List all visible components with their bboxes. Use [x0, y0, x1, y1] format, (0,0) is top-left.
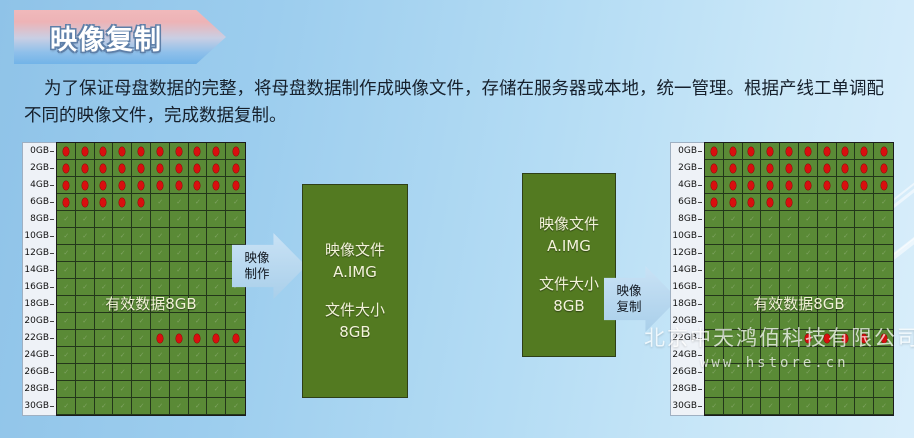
free-block-marker: ✓	[82, 404, 87, 409]
free-block-marker: ✓	[82, 268, 87, 273]
disk-block-cell	[743, 194, 762, 211]
disk-block-cell	[761, 194, 780, 211]
disk-block-cell: ✓	[724, 398, 743, 415]
disk-block-cell: ✓	[132, 364, 151, 381]
disk-block-cell	[113, 143, 132, 160]
free-block-marker: ✓	[749, 387, 754, 392]
axis-tick-label: 0GB	[23, 143, 56, 160]
disk-block-cell: ✓	[724, 296, 743, 313]
disk-block-cell: ✓	[132, 211, 151, 228]
disk-block-cell: ✓	[151, 313, 170, 330]
disk-block-cell: ✓	[761, 381, 780, 398]
free-block-marker: ✓	[862, 404, 867, 409]
axis-tick-label: 14GB	[23, 262, 56, 279]
free-block-marker: ✓	[730, 251, 735, 256]
free-block-marker: ✓	[195, 319, 200, 324]
disk-block-cell	[743, 160, 762, 177]
used-block-marker	[157, 181, 163, 190]
free-block-marker: ✓	[843, 251, 848, 256]
disk-block-cell	[151, 177, 170, 194]
disk-block-cell: ✓	[874, 381, 893, 398]
disk-block-cell: ✓	[207, 381, 226, 398]
disk-block-cell	[76, 143, 95, 160]
disk-block-cell: ✓	[207, 296, 226, 313]
target-disk-axis: 0GB2GB4GB6GB8GB10GB12GB14GB16GB18GB20GB2…	[670, 142, 704, 416]
disk-block-cell: ✓	[189, 364, 208, 381]
free-block-marker: ✓	[139, 319, 144, 324]
used-block-marker	[842, 164, 848, 173]
disk-block-cell: ✓	[705, 347, 724, 364]
free-block-marker: ✓	[214, 285, 219, 290]
disk-block-cell: ✓	[207, 313, 226, 330]
free-block-marker: ✓	[881, 319, 886, 324]
used-block-marker	[157, 147, 163, 156]
disk-block-cell: ✓	[76, 296, 95, 313]
disk-block-cell: ✓	[724, 330, 743, 347]
disk-block-cell: ✓	[151, 296, 170, 313]
free-block-marker: ✓	[63, 370, 68, 375]
disk-block-cell: ✓	[170, 194, 189, 211]
disk-block-cell: ✓	[132, 228, 151, 245]
free-block-marker: ✓	[233, 353, 238, 358]
disk-block-cell	[855, 143, 874, 160]
free-block-marker: ✓	[862, 268, 867, 273]
used-block-marker	[824, 334, 830, 343]
disk-block-cell	[799, 160, 818, 177]
disk-block-cell: ✓	[151, 364, 170, 381]
disk-block-cell: ✓	[207, 245, 226, 262]
used-block-marker	[119, 164, 125, 173]
disk-block-cell: ✓	[855, 194, 874, 211]
free-block-marker: ✓	[787, 234, 792, 239]
free-block-marker: ✓	[711, 404, 716, 409]
disk-block-cell: ✓	[113, 296, 132, 313]
free-block-marker: ✓	[176, 404, 181, 409]
free-block-marker: ✓	[711, 319, 716, 324]
disk-block-cell	[95, 194, 114, 211]
axis-tick-label: 20GB	[671, 313, 704, 330]
free-block-marker: ✓	[787, 336, 792, 341]
free-block-marker: ✓	[101, 404, 106, 409]
disk-block-cell	[837, 143, 856, 160]
disk-block-cell	[724, 143, 743, 160]
free-block-marker: ✓	[120, 234, 125, 239]
free-block-marker: ✓	[824, 387, 829, 392]
disk-block-cell: ✓	[855, 381, 874, 398]
free-block-marker: ✓	[233, 234, 238, 239]
used-block-marker	[100, 164, 106, 173]
disk-block-cell: ✓	[780, 228, 799, 245]
free-block-marker: ✓	[749, 302, 754, 307]
disk-block-cell: ✓	[226, 347, 245, 364]
disk-block-cell	[874, 330, 893, 347]
free-block-marker: ✓	[805, 234, 810, 239]
disk-block-cell: ✓	[799, 194, 818, 211]
disk-block-cell: ✓	[818, 381, 837, 398]
disk-block-cell: ✓	[189, 313, 208, 330]
used-block-marker	[824, 181, 830, 190]
disk-block-cell: ✓	[95, 296, 114, 313]
used-block-marker	[767, 181, 773, 190]
used-block-marker	[861, 147, 867, 156]
free-block-marker: ✓	[711, 285, 716, 290]
used-block-marker	[842, 334, 848, 343]
disk-block-cell	[226, 160, 245, 177]
free-block-marker: ✓	[862, 234, 867, 239]
free-block-marker: ✓	[711, 387, 716, 392]
free-block-marker: ✓	[63, 251, 68, 256]
disk-block-cell	[855, 160, 874, 177]
free-block-marker: ✓	[768, 251, 773, 256]
free-block-marker: ✓	[881, 251, 886, 256]
axis-tick-label: 8GB	[23, 211, 56, 228]
disk-block-cell: ✓	[189, 279, 208, 296]
free-block-marker: ✓	[195, 234, 200, 239]
disk-block-cell: ✓	[724, 245, 743, 262]
used-block-marker	[861, 181, 867, 190]
disk-block-cell: ✓	[799, 381, 818, 398]
free-block-marker: ✓	[157, 217, 162, 222]
disk-block-cell: ✓	[818, 296, 837, 313]
disk-block-cell: ✓	[780, 245, 799, 262]
free-block-marker: ✓	[233, 217, 238, 222]
free-block-marker: ✓	[843, 370, 848, 375]
free-block-marker: ✓	[101, 336, 106, 341]
used-block-marker	[824, 164, 830, 173]
free-block-marker: ✓	[862, 319, 867, 324]
free-block-marker: ✓	[157, 353, 162, 358]
disk-block-cell	[113, 177, 132, 194]
free-block-marker: ✓	[63, 404, 68, 409]
used-block-marker	[730, 198, 736, 207]
free-block-marker: ✓	[101, 251, 106, 256]
free-block-marker: ✓	[862, 251, 867, 256]
free-block-marker: ✓	[233, 370, 238, 375]
used-block-marker	[767, 198, 773, 207]
free-block-marker: ✓	[82, 319, 87, 324]
disk-block-cell: ✓	[57, 262, 76, 279]
used-block-marker	[213, 334, 219, 343]
disk-block-cell	[799, 330, 818, 347]
free-block-marker: ✓	[63, 319, 68, 324]
disk-block-cell: ✓	[780, 398, 799, 415]
disk-block-cell: ✓	[837, 364, 856, 381]
free-block-marker: ✓	[730, 370, 735, 375]
disk-block-cell: ✓	[57, 398, 76, 415]
free-block-marker: ✓	[824, 353, 829, 358]
disk-block-cell: ✓	[189, 398, 208, 415]
free-block-marker: ✓	[711, 217, 716, 222]
disk-block-cell: ✓	[780, 262, 799, 279]
disk-block-cell: ✓	[761, 296, 780, 313]
disk-block-cell: ✓	[207, 364, 226, 381]
free-block-marker: ✓	[157, 370, 162, 375]
used-block-marker	[805, 334, 811, 343]
disk-block-cell: ✓	[874, 245, 893, 262]
free-block-marker: ✓	[843, 387, 848, 392]
disk-block-cell: ✓	[724, 313, 743, 330]
free-block-marker: ✓	[843, 268, 848, 273]
free-block-marker: ✓	[711, 353, 716, 358]
free-block-marker: ✓	[824, 404, 829, 409]
free-block-marker: ✓	[730, 404, 735, 409]
image-file-box-source: 映像文件 A.IMG 文件大小 8GB	[302, 184, 408, 398]
free-block-marker: ✓	[749, 336, 754, 341]
disk-block-cell: ✓	[837, 245, 856, 262]
disk-block-cell: ✓	[837, 398, 856, 415]
free-block-marker: ✓	[157, 251, 162, 256]
disk-block-cell	[874, 160, 893, 177]
axis-tick-label: 28GB	[23, 381, 56, 398]
disk-block-cell	[207, 160, 226, 177]
disk-block-cell	[761, 177, 780, 194]
disk-block-cell: ✓	[226, 211, 245, 228]
free-block-marker: ✓	[101, 387, 106, 392]
disk-block-cell: ✓	[855, 262, 874, 279]
disk-block-cell	[170, 177, 189, 194]
disk-block-cell: ✓	[170, 211, 189, 228]
disk-block-cell: ✓	[57, 228, 76, 245]
disk-block-cell	[818, 143, 837, 160]
free-block-marker: ✓	[139, 285, 144, 290]
disk-block-cell: ✓	[57, 211, 76, 228]
disk-block-cell: ✓	[799, 296, 818, 313]
free-block-marker: ✓	[176, 234, 181, 239]
image-file-size-value: 8GB	[523, 295, 615, 317]
disk-block-cell: ✓	[799, 245, 818, 262]
axis-tick-label: 16GB	[671, 279, 704, 296]
free-block-marker: ✓	[176, 251, 181, 256]
free-block-marker: ✓	[195, 251, 200, 256]
free-block-marker: ✓	[881, 268, 886, 273]
free-block-marker: ✓	[120, 370, 125, 375]
free-block-marker: ✓	[157, 387, 162, 392]
free-block-marker: ✓	[176, 268, 181, 273]
disk-block-cell: ✓	[113, 398, 132, 415]
disk-block-cell: ✓	[57, 347, 76, 364]
disk-block-cell	[76, 194, 95, 211]
disk-block-cell	[151, 143, 170, 160]
disk-block-cell	[855, 177, 874, 194]
used-block-marker	[176, 164, 182, 173]
used-block-marker	[100, 147, 106, 156]
free-block-marker: ✓	[805, 217, 810, 222]
free-block-marker: ✓	[195, 200, 200, 205]
used-block-marker	[63, 164, 69, 173]
disk-block-cell: ✓	[724, 381, 743, 398]
disk-block-cell	[132, 160, 151, 177]
disk-block-cell: ✓	[780, 313, 799, 330]
disk-block-cell: ✓	[743, 398, 762, 415]
free-block-marker: ✓	[824, 302, 829, 307]
free-block-marker: ✓	[176, 353, 181, 358]
disk-block-cell: ✓	[855, 398, 874, 415]
disk-block-cell: ✓	[189, 381, 208, 398]
used-block-marker	[805, 181, 811, 190]
disk-block-cell	[837, 177, 856, 194]
disk-block-cell	[132, 143, 151, 160]
used-block-marker	[881, 181, 887, 190]
free-block-marker: ✓	[881, 200, 886, 205]
free-block-marker: ✓	[101, 234, 106, 239]
free-block-marker: ✓	[214, 268, 219, 273]
free-block-marker: ✓	[824, 370, 829, 375]
disk-block-cell: ✓	[743, 279, 762, 296]
used-block-marker	[176, 334, 182, 343]
disk-block-cell: ✓	[189, 194, 208, 211]
disk-block-cell: ✓	[874, 228, 893, 245]
free-block-marker: ✓	[101, 217, 106, 222]
free-block-marker: ✓	[195, 268, 200, 273]
disk-block-cell: ✓	[761, 398, 780, 415]
axis-tick-label: 30GB	[671, 398, 704, 415]
free-block-marker: ✓	[805, 387, 810, 392]
source-disk-diagram: 0GB2GB4GB6GB8GB10GB12GB14GB16GB18GB20GB2…	[22, 142, 246, 416]
arrow-label-line1: 映像	[616, 283, 641, 299]
disk-block-cell: ✓	[799, 279, 818, 296]
free-block-marker: ✓	[824, 268, 829, 273]
used-block-marker	[138, 198, 144, 207]
free-block-marker: ✓	[120, 302, 125, 307]
disk-block-cell: ✓	[95, 313, 114, 330]
disk-block-cell	[189, 160, 208, 177]
disk-block-cell: ✓	[799, 364, 818, 381]
axis-tick-label: 12GB	[23, 245, 56, 262]
used-block-marker	[157, 164, 163, 173]
free-block-marker: ✓	[749, 268, 754, 273]
disk-block-cell: ✓	[170, 313, 189, 330]
free-block-marker: ✓	[139, 251, 144, 256]
free-block-marker: ✓	[214, 234, 219, 239]
free-block-marker: ✓	[139, 370, 144, 375]
disk-block-cell: ✓	[705, 364, 724, 381]
disk-block-cell: ✓	[226, 364, 245, 381]
free-block-marker: ✓	[787, 404, 792, 409]
disk-block-cell: ✓	[151, 262, 170, 279]
disk-block-cell: ✓	[226, 296, 245, 313]
free-block-marker: ✓	[805, 319, 810, 324]
free-block-marker: ✓	[711, 251, 716, 256]
disk-block-cell: ✓	[855, 313, 874, 330]
disk-block-cell: ✓	[743, 364, 762, 381]
disk-block-cell: ✓	[207, 228, 226, 245]
disk-block-cell	[705, 143, 724, 160]
free-block-marker: ✓	[862, 302, 867, 307]
disk-block-cell: ✓	[113, 211, 132, 228]
disk-block-cell: ✓	[724, 262, 743, 279]
free-block-marker: ✓	[157, 234, 162, 239]
axis-tick-label: 6GB	[23, 194, 56, 211]
disk-block-cell: ✓	[724, 364, 743, 381]
free-block-marker: ✓	[881, 404, 886, 409]
free-block-marker: ✓	[862, 200, 867, 205]
image-file-box-target: 映像文件 A.IMG 文件大小 8GB	[522, 173, 616, 357]
free-block-marker: ✓	[120, 336, 125, 341]
disk-block-cell: ✓	[132, 381, 151, 398]
disk-block-cell: ✓	[76, 364, 95, 381]
free-block-marker: ✓	[63, 353, 68, 358]
disk-block-cell: ✓	[874, 296, 893, 313]
disk-block-cell: ✓	[837, 228, 856, 245]
image-file-size-label: 文件大小	[303, 299, 407, 321]
free-block-marker: ✓	[214, 353, 219, 358]
used-block-marker	[157, 334, 163, 343]
used-block-marker	[842, 147, 848, 156]
free-block-marker: ✓	[749, 319, 754, 324]
free-block-marker: ✓	[768, 404, 773, 409]
disk-block-cell: ✓	[761, 313, 780, 330]
free-block-marker: ✓	[730, 387, 735, 392]
free-block-marker: ✓	[214, 302, 219, 307]
disk-block-cell: ✓	[705, 330, 724, 347]
disk-block-cell: ✓	[761, 279, 780, 296]
free-block-marker: ✓	[82, 251, 87, 256]
free-block-marker: ✓	[176, 319, 181, 324]
disk-block-cell: ✓	[743, 330, 762, 347]
free-block-marker: ✓	[233, 302, 238, 307]
disk-block-cell: ✓	[76, 381, 95, 398]
axis-tick-label: 2GB	[23, 160, 56, 177]
free-block-marker: ✓	[843, 302, 848, 307]
disk-block-cell	[818, 177, 837, 194]
disk-block-cell: ✓	[95, 245, 114, 262]
axis-tick-label: 22GB	[671, 330, 704, 347]
free-block-marker: ✓	[214, 319, 219, 324]
free-block-marker: ✓	[824, 285, 829, 290]
axis-tick-label: 0GB	[671, 143, 704, 160]
disk-block-cell	[780, 194, 799, 211]
disk-block-cell	[705, 177, 724, 194]
disk-block-cell: ✓	[874, 211, 893, 228]
disk-block-cell: ✓	[170, 228, 189, 245]
free-block-marker: ✓	[82, 302, 87, 307]
disk-block-cell: ✓	[170, 398, 189, 415]
free-block-marker: ✓	[768, 387, 773, 392]
free-block-marker: ✓	[214, 370, 219, 375]
free-block-marker: ✓	[843, 217, 848, 222]
disk-block-cell	[57, 143, 76, 160]
disk-block-cell: ✓	[132, 347, 151, 364]
disk-block-cell: ✓	[207, 194, 226, 211]
disk-block-cell: ✓	[170, 364, 189, 381]
disk-block-cell: ✓	[226, 228, 245, 245]
free-block-marker: ✓	[787, 302, 792, 307]
disk-block-cell: ✓	[743, 296, 762, 313]
disk-block-cell	[761, 143, 780, 160]
disk-block-cell: ✓	[132, 262, 151, 279]
disk-block-cell: ✓	[170, 279, 189, 296]
disk-block-cell: ✓	[113, 347, 132, 364]
disk-block-cell: ✓	[837, 279, 856, 296]
free-block-marker: ✓	[82, 370, 87, 375]
free-block-marker: ✓	[862, 387, 867, 392]
free-block-marker: ✓	[711, 268, 716, 273]
free-block-marker: ✓	[881, 302, 886, 307]
disk-block-cell: ✓	[113, 381, 132, 398]
free-block-marker: ✓	[101, 302, 106, 307]
disk-block-cell	[226, 143, 245, 160]
disk-block-cell: ✓	[874, 194, 893, 211]
disk-block-cell: ✓	[95, 211, 114, 228]
disk-block-cell: ✓	[76, 211, 95, 228]
disk-block-cell: ✓	[113, 330, 132, 347]
disk-block-cell: ✓	[207, 211, 226, 228]
disk-block-cell: ✓	[76, 228, 95, 245]
disk-block-cell: ✓	[818, 313, 837, 330]
disk-block-cell: ✓	[170, 245, 189, 262]
free-block-marker: ✓	[176, 302, 181, 307]
used-block-marker	[748, 164, 754, 173]
